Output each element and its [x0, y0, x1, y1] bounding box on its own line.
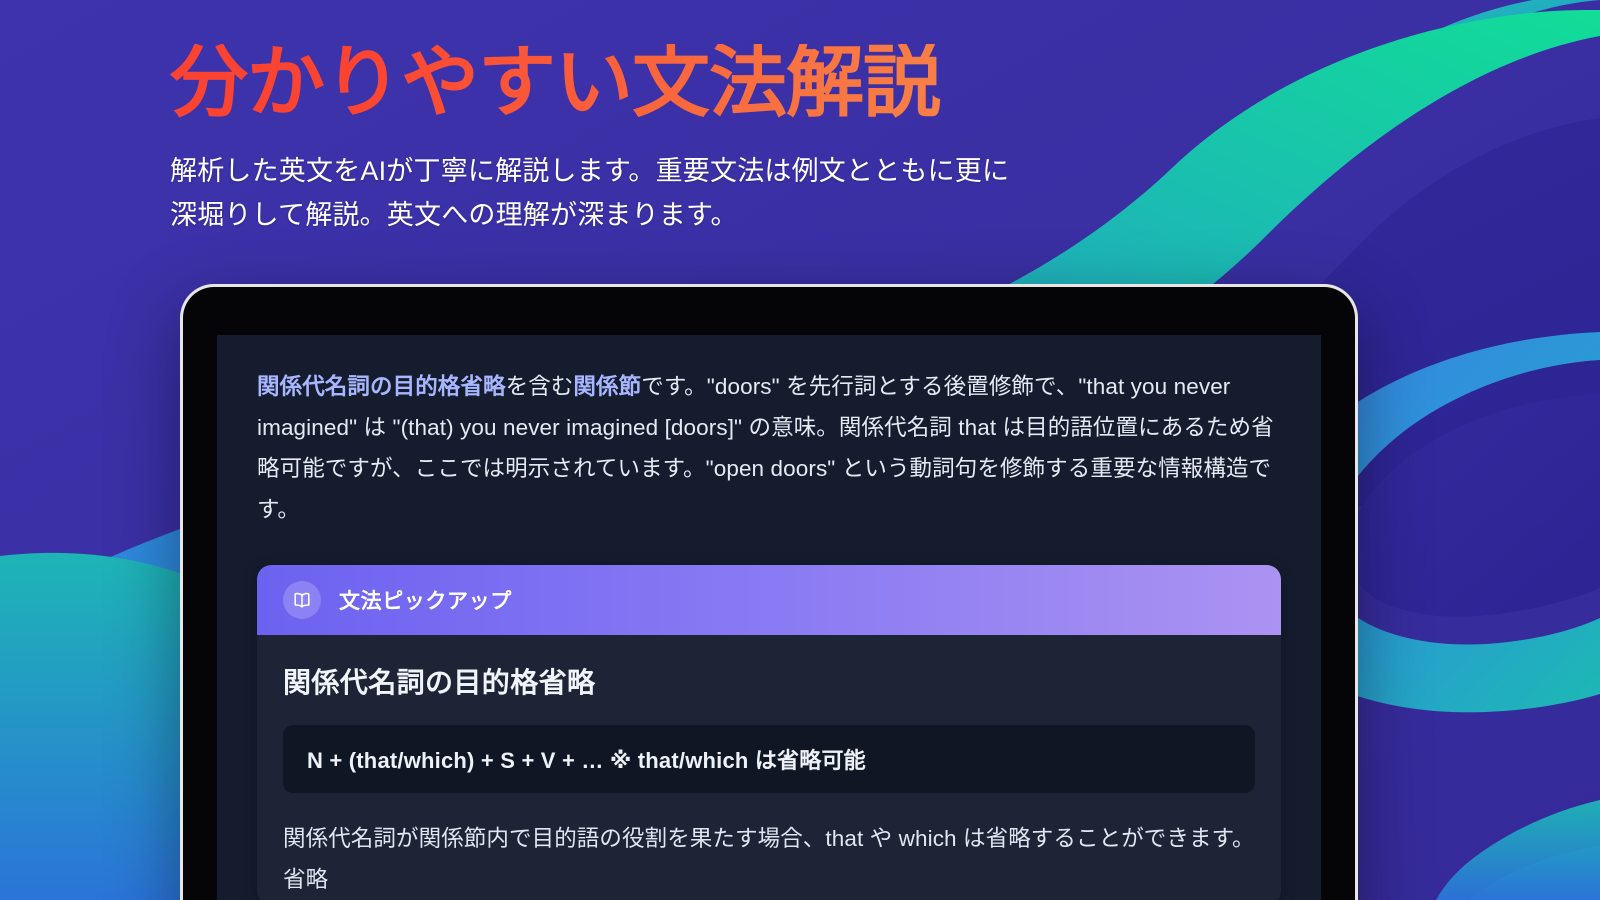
analysis-keyword-2: 関係節 — [573, 374, 641, 399]
hero-section: 分かりやすい文法解説 解析した英文をAIが丁寧に解説します。重要文法は例文ととも… — [0, 0, 1600, 900]
grammar-pattern-box: N + (that/which) + S + V + … ※ that/whic… — [283, 725, 1255, 793]
hero-subtitle: 解析した英文をAIが丁寧に解説します。重要文法は例文とともに更に 深堀りして解説… — [170, 150, 1170, 237]
hero-copy: 分かりやすい文法解説 解析した英文をAIが丁寧に解説します。重要文法は例文ととも… — [170, 44, 1170, 237]
analysis-keyword-1: 関係代名詞の目的格省略 — [257, 374, 506, 399]
open-book-icon — [283, 581, 321, 619]
grammar-pickup-header-label: 文法ピックアップ — [339, 585, 512, 615]
device-screen: 関係代名詞の目的格省略を含む関係節です。"doors" を先行詞とする後置修飾で… — [217, 335, 1321, 900]
page-title: 分かりやすい文法解説 — [170, 44, 1170, 122]
grammar-analysis-paragraph: 関係代名詞の目的格省略を含む関係節です。"doors" を先行詞とする後置修飾で… — [257, 367, 1281, 531]
grammar-pickup-card: 文法ピックアップ 関係代名詞の目的格省略 N + (that/which) + … — [257, 565, 1281, 900]
grammar-point-description: 関係代名詞が関係節内で目的語の役割を果たす場合、that や which は省略… — [283, 819, 1255, 900]
analysis-text-1: を含む — [506, 374, 574, 399]
screen-content: 関係代名詞の目的格省略を含む関係節です。"doors" を先行詞とする後置修飾で… — [217, 335, 1321, 900]
grammar-point-title: 関係代名詞の目的格省略 — [283, 661, 1255, 701]
grammar-pickup-header: 文法ピックアップ — [257, 565, 1281, 635]
tablet-device-mockup: 関係代名詞の目的格省略を含む関係節です。"doors" を先行詞とする後置修飾で… — [180, 284, 1358, 900]
grammar-pickup-body: 関係代名詞の目的格省略 N + (that/which) + S + V + …… — [257, 635, 1281, 900]
